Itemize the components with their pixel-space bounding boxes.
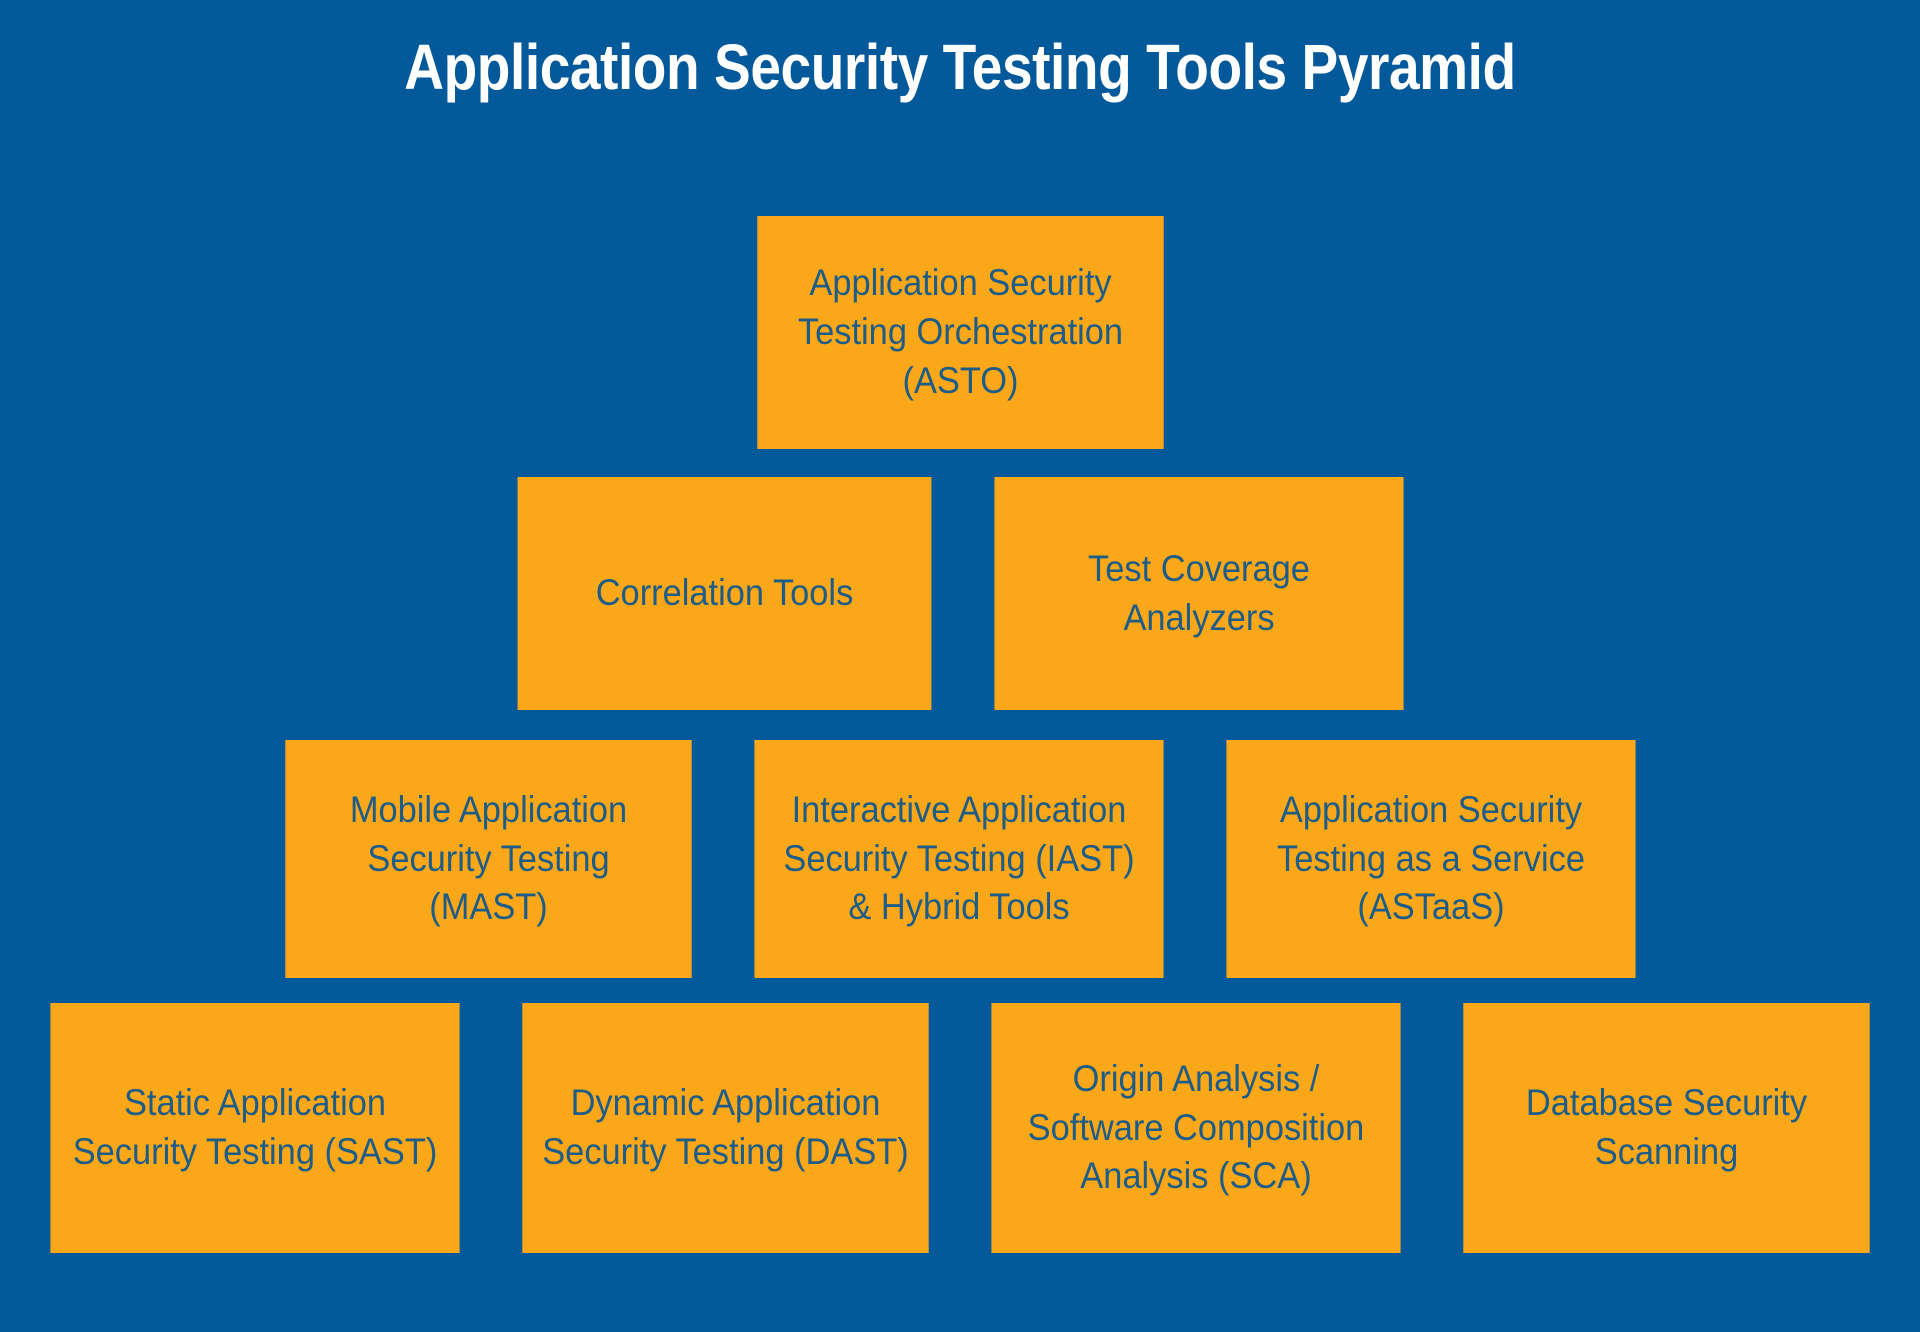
node-dast[interactable]: Dynamic Application Security Testing (DA…: [522, 1003, 928, 1253]
page-title: Application Security Testing Tools Pyram…: [134, 34, 1785, 101]
node-sast[interactable]: Static Application Security Testing (SAS…: [50, 1003, 459, 1253]
diagram-canvas: Application Security Testing Tools Pyram…: [0, 0, 1920, 1332]
pyramid-tier-2: Correlation Tools Test Coverage Analyzer…: [0, 477, 1920, 710]
pyramid-tier-3: Mobile Application Security Testing (MAS…: [0, 740, 1920, 978]
node-test-coverage-analyzers[interactable]: Test Coverage Analyzers: [994, 477, 1403, 710]
node-correlation-tools[interactable]: Correlation Tools: [517, 477, 931, 710]
node-astaas[interactable]: Application Security Testing as a Servic…: [1226, 740, 1635, 978]
node-sca[interactable]: Origin Analysis / Software Composition A…: [991, 1003, 1400, 1253]
pyramid-tier-4: Static Application Security Testing (SAS…: [0, 1003, 1920, 1253]
node-database-security-scanning[interactable]: Database Security Scanning: [1463, 1003, 1869, 1253]
node-asto[interactable]: Application Security Testing Orchestrati…: [757, 216, 1163, 449]
pyramid-tier-1: Application Security Testing Orchestrati…: [0, 216, 1920, 449]
node-mast[interactable]: Mobile Application Security Testing (MAS…: [285, 740, 691, 978]
node-iast[interactable]: Interactive Application Security Testing…: [754, 740, 1163, 978]
